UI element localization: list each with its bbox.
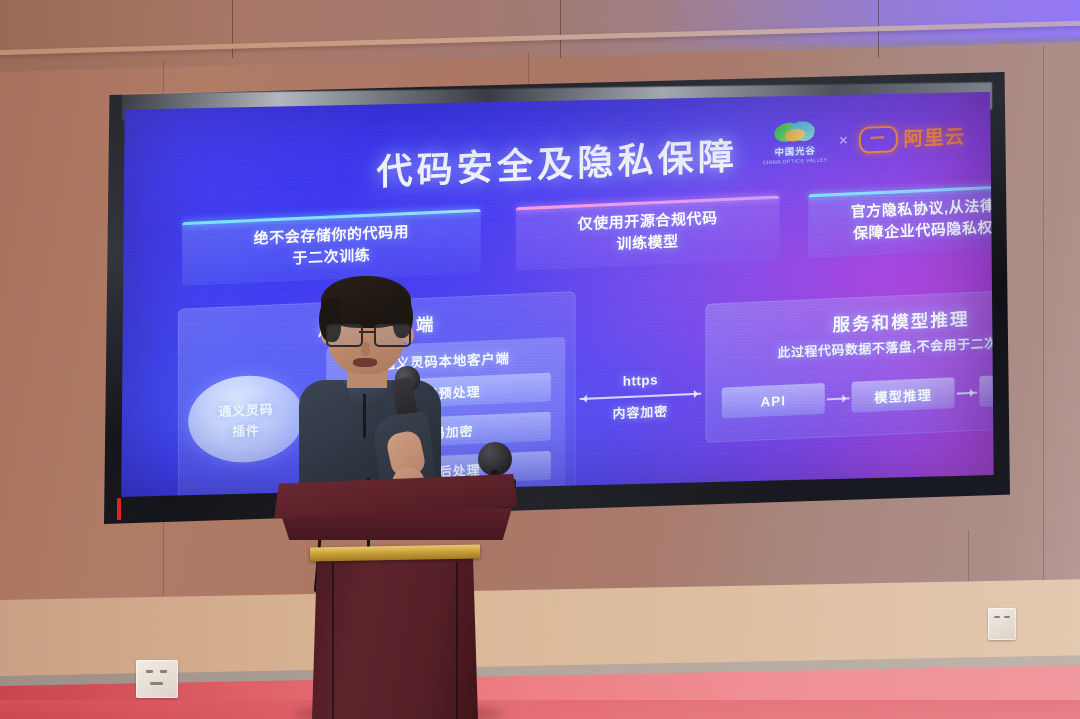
presentation-display: 代码安全及隐私保障 中国光谷 CHINA OPTICS VALLEY × 阿里云 — [104, 72, 1010, 524]
ceiling-seam — [560, 0, 561, 58]
presenter-mouth — [353, 358, 377, 367]
lectern-edge — [456, 562, 458, 719]
lectern-gold-band — [310, 545, 480, 562]
wall-panel-seam — [1043, 46, 1044, 631]
lectern — [274, 474, 518, 719]
conference-room-scene: 代码安全及隐私保障 中国光谷 CHINA OPTICS VALLEY × 阿里云 — [0, 0, 1080, 719]
screen-indicator-light — [117, 498, 121, 520]
lens-right — [374, 324, 411, 347]
ceiling-seam — [232, 0, 233, 58]
slide-surface: 代码安全及隐私保障 中国光谷 CHINA OPTICS VALLEY × 阿里云 — [121, 92, 993, 497]
lectern-edge — [332, 562, 334, 719]
presenter-nose — [361, 342, 370, 356]
wall-outlet-right[interactable] — [988, 608, 1016, 640]
glasses-bridge — [359, 331, 375, 333]
eyeglasses — [325, 324, 409, 344]
lens-left — [326, 324, 363, 347]
lectern-column — [312, 558, 478, 719]
wall-outlet-left[interactable] — [136, 660, 178, 698]
screen-vignette — [121, 92, 993, 497]
carpet-foreground — [0, 700, 1080, 719]
polo-placket — [363, 394, 366, 438]
